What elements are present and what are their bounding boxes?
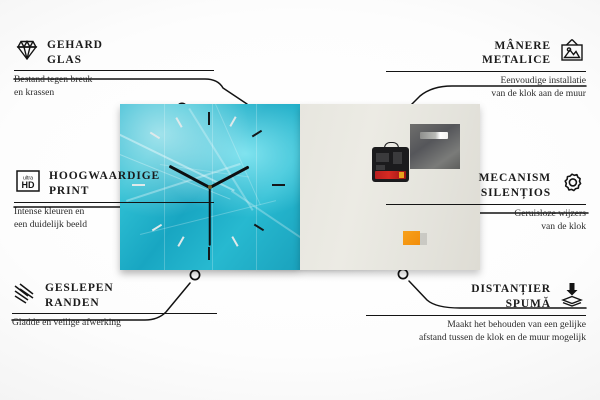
- feature-header: ultra HD HOOGWAARDIGE PRINT: [14, 168, 214, 199]
- feature-divider: [366, 315, 586, 316]
- feature-polished-edges: GESLEPEN RANDEN Gladde en veilige afwerk…: [12, 281, 217, 330]
- picture-frame-icon: [558, 38, 586, 68]
- infographic-canvas: GEHARD GLAS Bestand tegen breuk en krass…: [0, 0, 600, 400]
- feature-metal-handles: MÂNERE METALICE Eenvoudige installatie v…: [386, 38, 586, 100]
- feature-title: MECANISM SILENȚIOS: [479, 171, 551, 200]
- feature-divider: [386, 204, 586, 205]
- feature-description: Geruisloze wijzers van de klok: [386, 208, 586, 233]
- feature-silent-mechanism: MECANISM SILENȚIOS Geruisloze wijzers va…: [386, 170, 586, 233]
- movement-hook: [384, 142, 399, 151]
- svg-text:HD: HD: [22, 180, 35, 190]
- feature-header: GEHARD GLAS: [14, 38, 214, 67]
- hanger-slot: [420, 132, 448, 139]
- feature-high-quality-print: ultra HD HOOGWAARDIGE PRINT Intense kleu…: [14, 168, 214, 231]
- feature-header: GESLEPEN RANDEN: [12, 281, 217, 310]
- ultra-hd-icon: ultra HD: [14, 168, 42, 199]
- feature-header: MÂNERE METALICE: [386, 38, 586, 68]
- gear-icon: [558, 170, 586, 201]
- feature-divider: [386, 71, 586, 72]
- feature-title: GESLEPEN RANDEN: [45, 281, 114, 310]
- feature-divider: [14, 202, 214, 203]
- feature-title: HOOGWAARDIGE PRINT: [49, 169, 160, 198]
- feature-header: DISTANȚIER SPUMĂ: [366, 281, 586, 312]
- feature-description: Bestand tegen breuk en krassen: [14, 74, 214, 99]
- diagonal-lines-icon: [12, 281, 38, 310]
- feature-title: GEHARD GLAS: [47, 38, 103, 67]
- foam-spacer-shadow: [420, 233, 427, 245]
- arrow-down-layers-icon: [558, 281, 586, 312]
- feature-foam-spacer: DISTANȚIER SPUMĂ Maakt het behouden van …: [366, 281, 586, 344]
- feature-description: Intense kleuren en een duidelijk beeld: [14, 206, 214, 231]
- feature-header: MECANISM SILENȚIOS: [386, 170, 586, 201]
- feature-title: MÂNERE METALICE: [482, 39, 551, 68]
- feature-description: Eenvoudige installatie van de klok aan d…: [386, 75, 586, 100]
- diamond-icon: [14, 38, 40, 67]
- feature-divider: [14, 70, 214, 71]
- feature-description: Gladde en veilige afwerking: [12, 317, 217, 329]
- feature-title: DISTANȚIER SPUMĂ: [471, 282, 551, 311]
- feature-tempered-glass: GEHARD GLAS Bestand tegen breuk en krass…: [14, 38, 214, 99]
- feature-divider: [12, 313, 217, 314]
- feature-description: Maakt het behouden van een gelijke afsta…: [366, 319, 586, 344]
- metal-hanger-plate: [410, 124, 460, 169]
